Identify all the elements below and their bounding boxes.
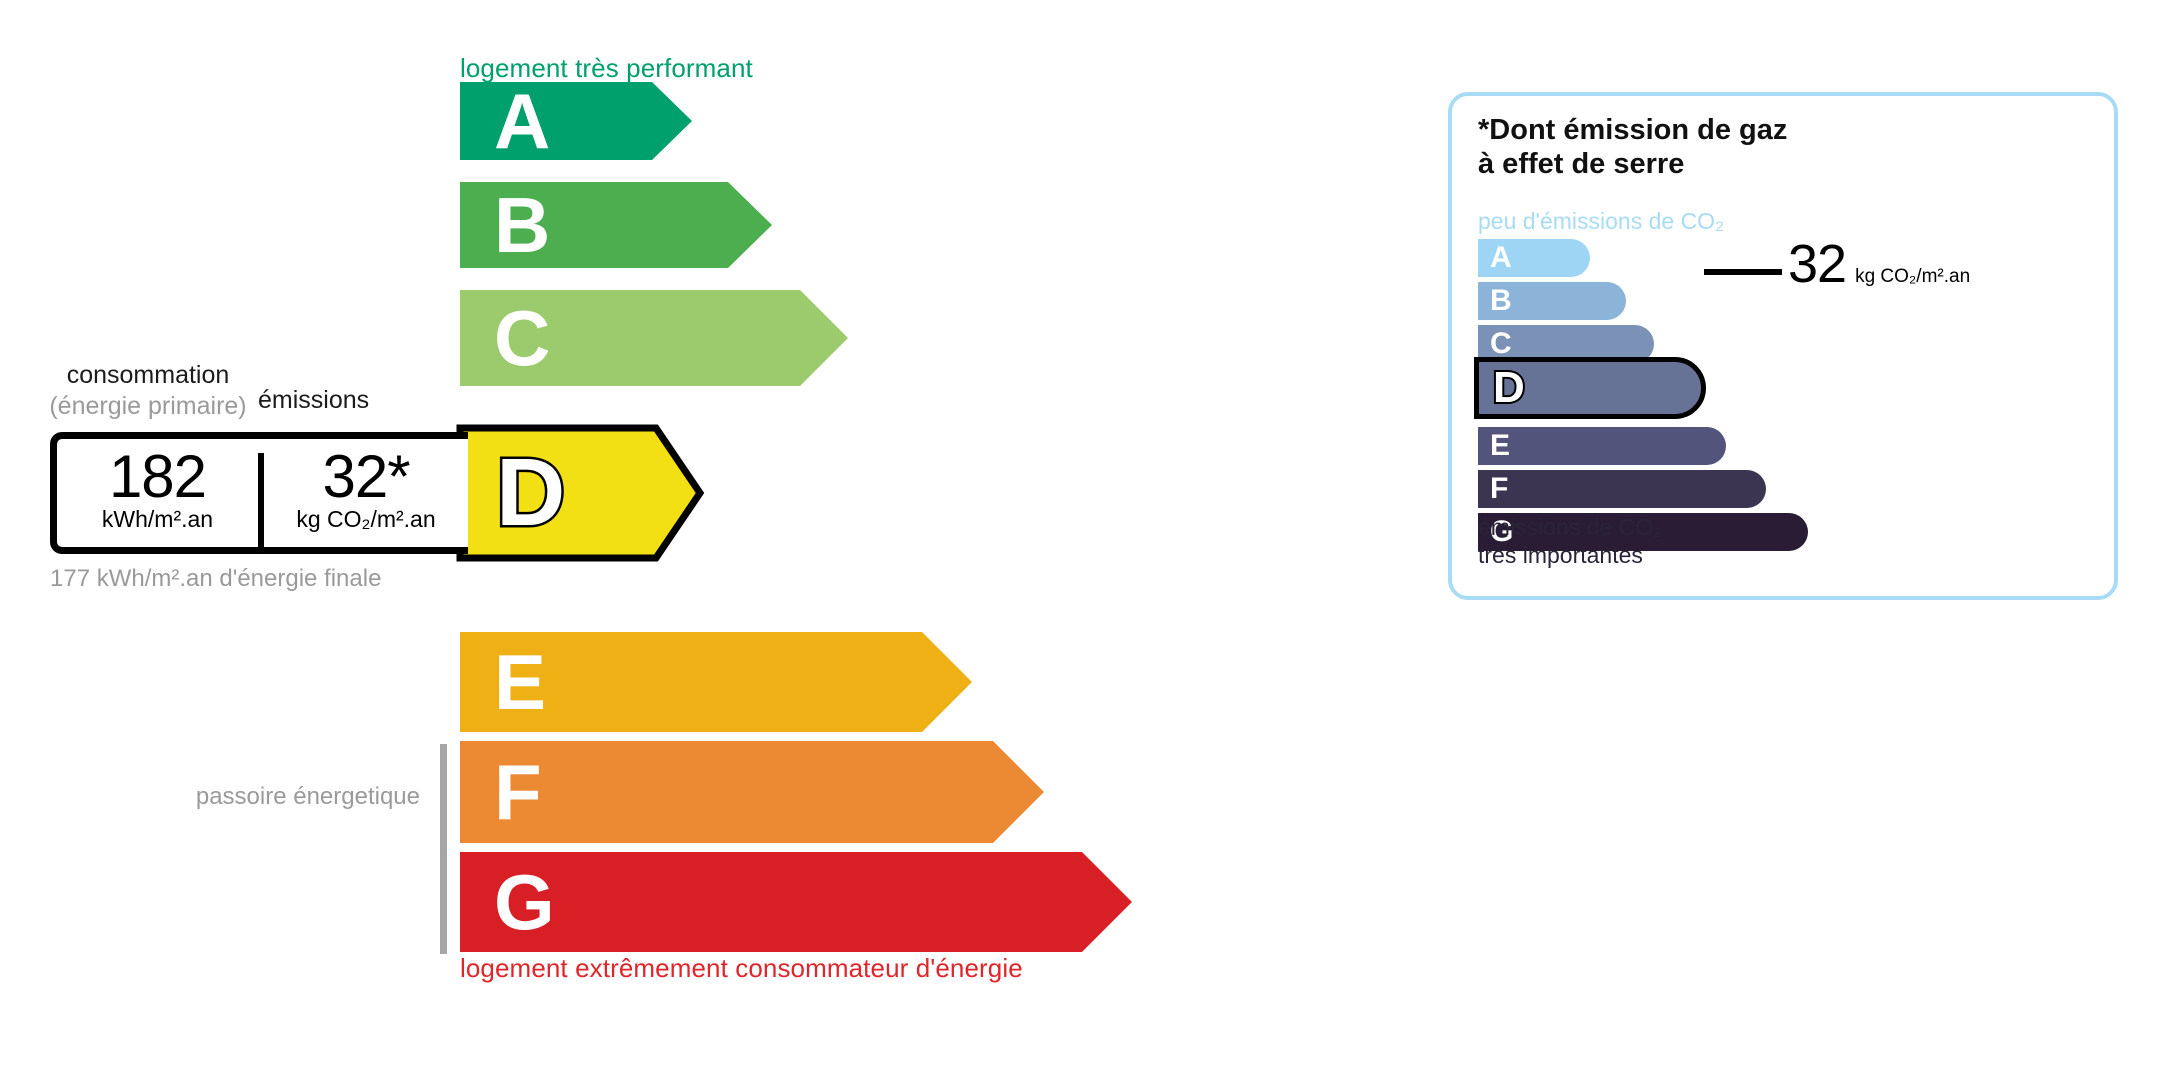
co2-class-letter-a: A <box>1490 243 1512 273</box>
co2-class-letter-c: C <box>1490 329 1512 359</box>
co2-class-letter-e: E <box>1490 431 1510 461</box>
energy-class-letter-a: A <box>494 82 550 160</box>
co2-leader-line <box>1704 269 1782 275</box>
co2-class-row-e[interactable]: E <box>1478 427 1726 465</box>
energy-class-letter-g: G <box>494 863 555 941</box>
co2-caption-top: peu d'émissions de CO₂ <box>1478 208 1724 235</box>
co2-value-annotation: 32 kg CO₂/m².an <box>1788 237 1970 291</box>
co2-class-row-a[interactable]: A <box>1478 239 1590 277</box>
energy-class-letter-c: C <box>494 299 550 377</box>
consumption-label: consommation (énergie primaire) <box>48 360 248 421</box>
passoire-energetique-label: passoire énergetique <box>160 781 420 812</box>
emission-value: 32* <box>264 445 468 509</box>
arrow-shape-g <box>460 852 1132 952</box>
energy-class-row-g[interactable]: G <box>460 852 1132 952</box>
co2-class-letter-d: D <box>1493 366 1525 410</box>
energy-class-row-d[interactable]: D <box>460 428 700 558</box>
emission-unit: kg CO₂/m².an <box>264 507 468 532</box>
final-energy-note: 177 kWh/m².an d'énergie finale <box>50 564 381 594</box>
energy-class-row-b[interactable]: B <box>460 182 772 268</box>
consumption-value-cell: 182 kWh/m².an <box>57 445 258 532</box>
consumption-label-main: consommation <box>67 361 230 389</box>
energy-class-row-e[interactable]: E <box>460 632 972 732</box>
energy-class-row-c[interactable]: C <box>460 290 848 386</box>
consumption-value: 182 <box>57 445 258 509</box>
energy-class-row-f[interactable]: F <box>460 741 1044 843</box>
energy-class-letter-d: D <box>496 445 565 541</box>
scale-caption-bottom: logement extrêmement consommateur d'éner… <box>460 953 1023 984</box>
co2-class-row-d[interactable]: D <box>1474 357 1706 419</box>
co2-emission-panel: *Dont émission de gaz à effet de serre p… <box>1448 92 2118 600</box>
co2-class-letter-f: F <box>1490 474 1508 504</box>
consumption-unit: kWh/m².an <box>57 507 258 532</box>
energy-class-letter-f: F <box>494 753 542 831</box>
energy-class-row-a[interactable]: A <box>460 82 692 160</box>
value-box: 182 kWh/m².an 32* kg CO₂/m².an <box>50 432 468 554</box>
co2-panel-title: *Dont émission de gaz à effet de serre <box>1478 114 1787 181</box>
energy-performance-scale: logement très performant A B C <box>0 0 1400 1079</box>
co2-class-row-f[interactable]: F <box>1478 470 1766 508</box>
co2-caption-bottom: émissions de CO₂ très importantes <box>1478 513 1662 569</box>
co2-class-row-b[interactable]: B <box>1478 282 1626 320</box>
co2-class-letter-b: B <box>1490 286 1512 316</box>
emissions-label: émissions <box>258 386 369 415</box>
emission-value-cell: 32* kg CO₂/m².an <box>264 445 468 532</box>
consumption-label-sub: (énergie primaire) <box>49 392 246 420</box>
energy-class-letter-b: B <box>494 186 550 264</box>
arrow-shape-f <box>460 741 1044 843</box>
co2-value-number: 32 <box>1788 237 1846 291</box>
passoire-indicator-bar <box>440 744 447 954</box>
co2-value-unit: kg CO₂/m².an <box>1855 266 1970 288</box>
energy-class-letter-e: E <box>494 643 546 721</box>
